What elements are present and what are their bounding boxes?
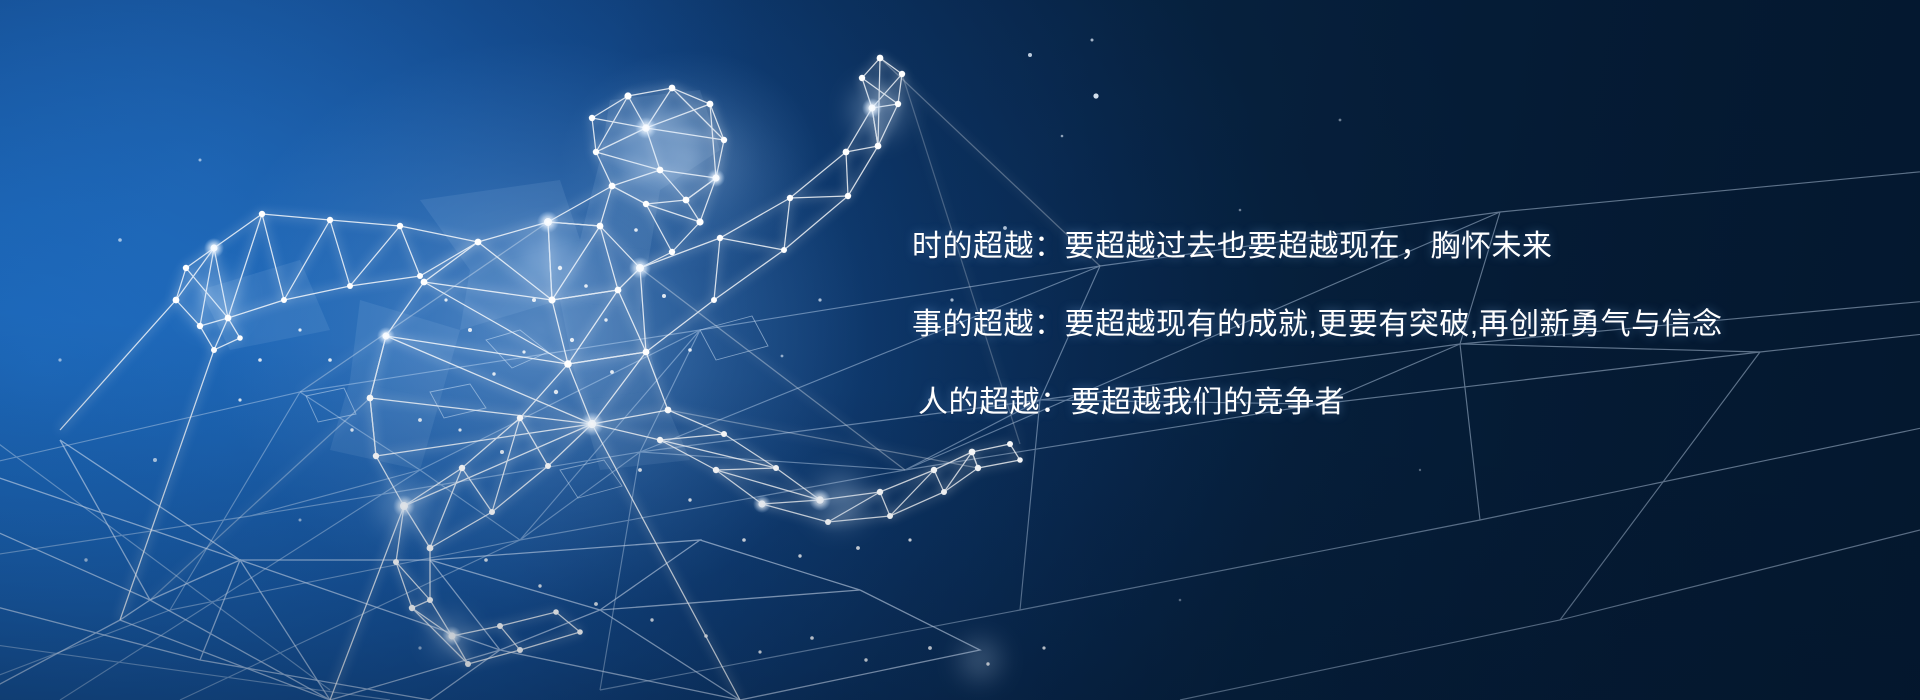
tagline-line-2: 事的超越：要超越现有的成就,更要有突破,再创新勇气与信念 — [912, 310, 1792, 340]
tagline-block: 时的超越：要超越过去也要超越现在，胸怀未来 事的超越：要超越现有的成就,更要有突… — [912, 232, 1792, 418]
tagline-line-3: 人的超越：要超越我们的竞争者 — [918, 388, 1792, 418]
hero-banner: 时的超越：要超越过去也要超越现在，胸怀未来 事的超越：要超越现有的成就,更要有突… — [0, 0, 1920, 700]
tagline-line-1: 时的超越：要超越过去也要超越现在，胸怀未来 — [912, 232, 1792, 262]
